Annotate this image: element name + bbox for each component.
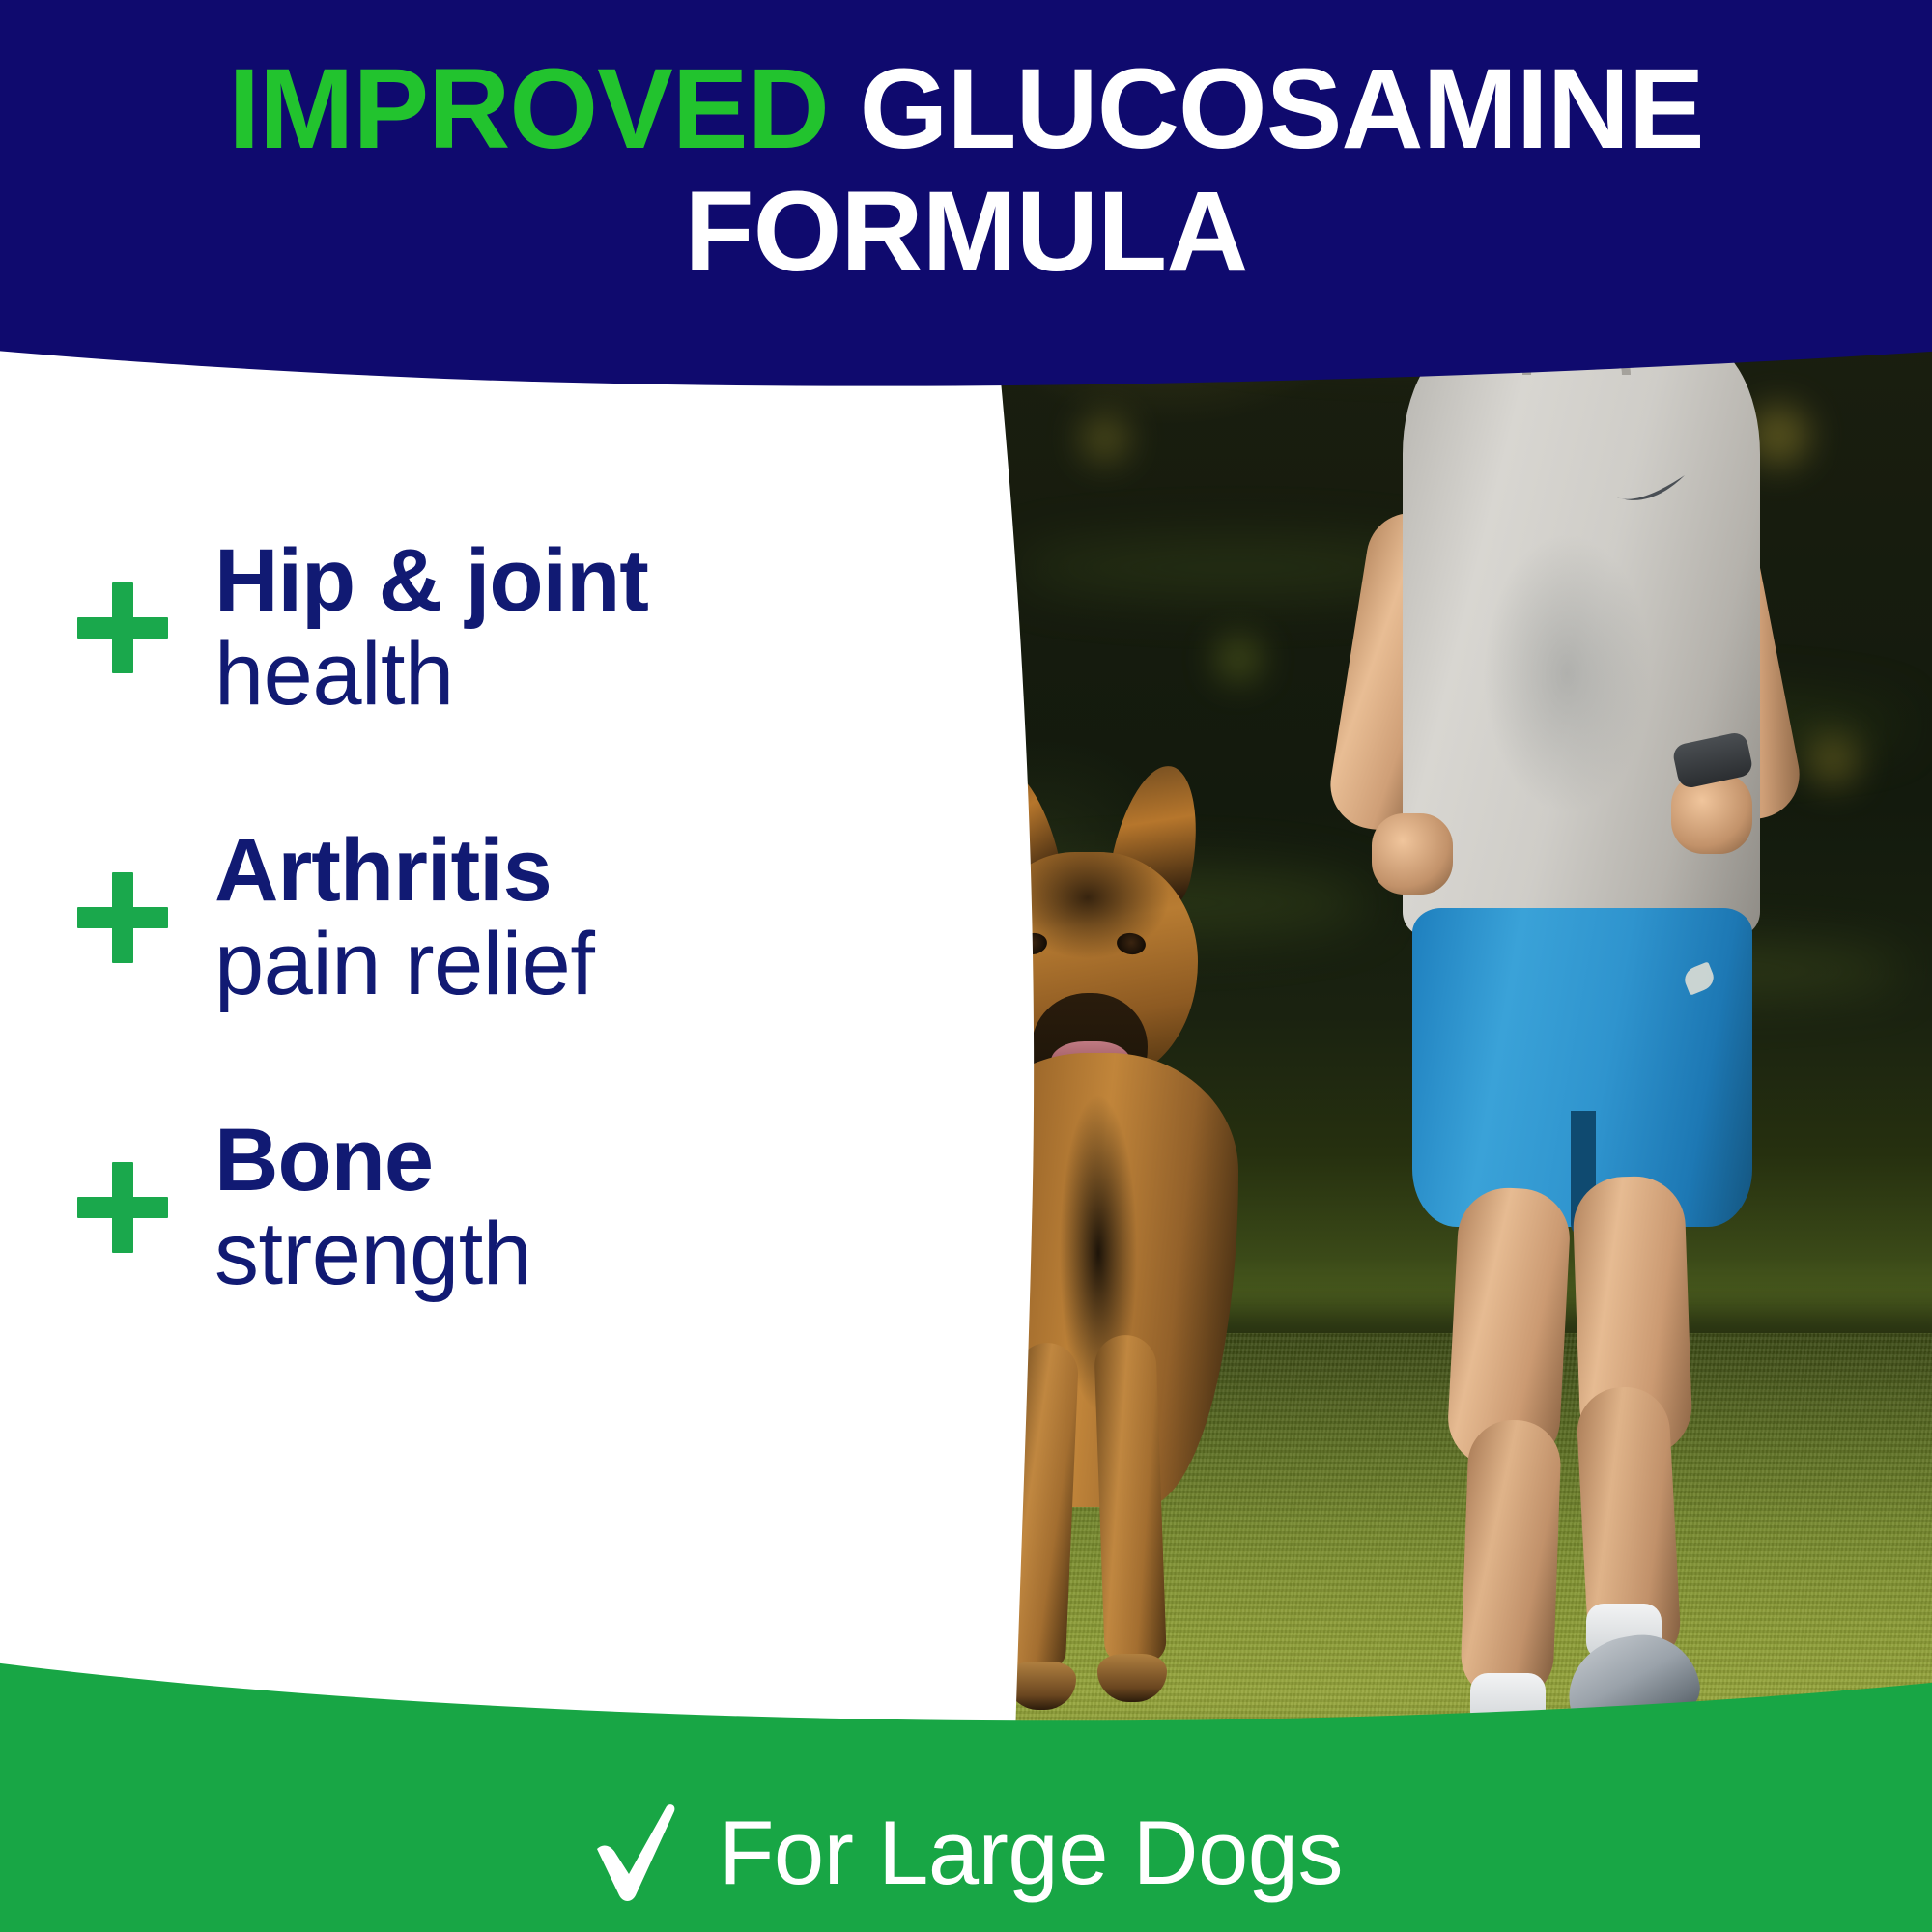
- feature-headline: Hip & joint: [214, 534, 648, 628]
- check-icon: [589, 1804, 686, 1901]
- runner-fist-left: [1372, 813, 1453, 895]
- plus-icon: [77, 872, 168, 963]
- feature-item: Arthritis pain relief: [0, 773, 966, 1063]
- footer-banner-content: For Large Dogs: [58, 1804, 1874, 1901]
- feature-headline: Bone: [214, 1114, 531, 1207]
- plus-icon: [77, 582, 168, 673]
- feature-headline: Arthritis: [214, 824, 594, 918]
- feature-text: Hip & joint health: [214, 534, 648, 721]
- headline-line-2: FORMULA: [0, 171, 1932, 294]
- bokeh-light: [1082, 415, 1128, 462]
- footer-banner-label: For Large Dogs: [719, 1807, 1343, 1898]
- feature-text: Bone strength: [214, 1114, 531, 1300]
- feature-item: Bone strength: [0, 1063, 966, 1352]
- brand-swoosh-icon: [1613, 475, 1687, 504]
- feature-subline: strength: [214, 1207, 531, 1301]
- feature-item: Hip & joint health: [0, 483, 966, 773]
- feature-text: Arthritis pain relief: [214, 824, 594, 1010]
- runner-calf-left: [1460, 1418, 1562, 1701]
- feature-subline: health: [214, 628, 648, 722]
- feature-subline: pain relief: [214, 918, 594, 1011]
- feature-list: Hip & joint health Arthritis pain relief…: [0, 483, 966, 1352]
- dog-leg-right: [1094, 1334, 1167, 1664]
- plus-icon: [77, 1162, 168, 1253]
- headline-main-word: GLUCOSAMINE: [860, 45, 1704, 173]
- bokeh-light: [1217, 638, 1260, 680]
- ad-creative: Hip & joint health Arthritis pain relief…: [0, 0, 1932, 1932]
- headline-highlight-word: IMPROVED: [228, 45, 828, 173]
- dog-paw-right: [1097, 1654, 1167, 1702]
- headline-line-1: IMPROVED GLUCOSAMINE: [0, 48, 1932, 171]
